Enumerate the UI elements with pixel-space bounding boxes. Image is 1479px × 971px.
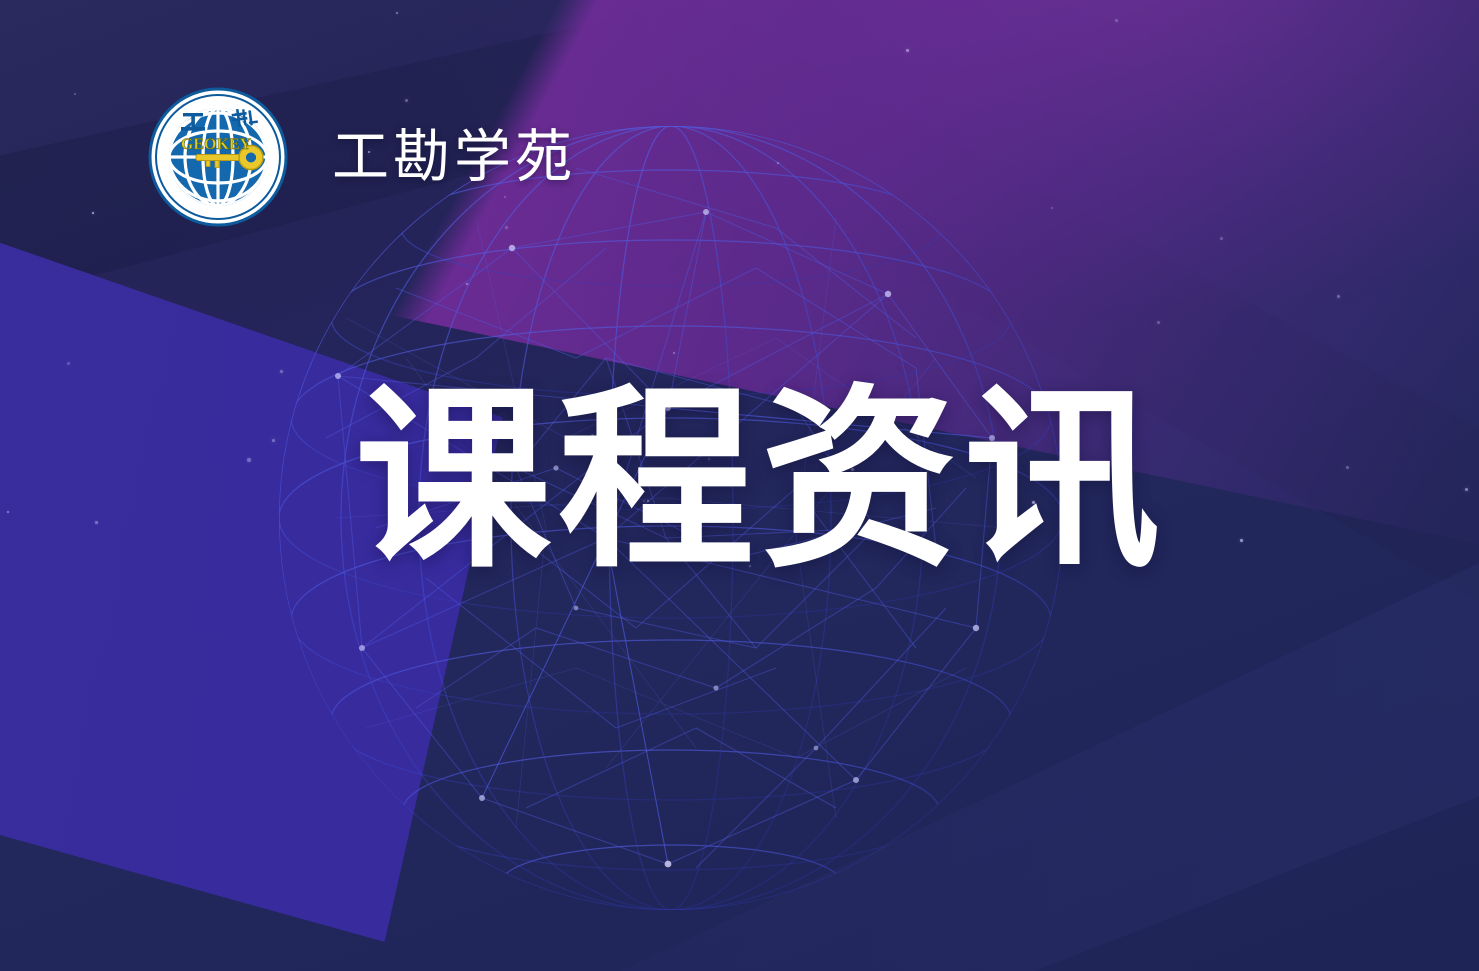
star-dot xyxy=(1240,539,1243,542)
star-dot xyxy=(1115,19,1118,22)
star-dot xyxy=(777,162,779,164)
star-dot xyxy=(272,439,275,442)
star-dot xyxy=(673,352,675,354)
star-dot xyxy=(67,362,70,365)
slide-canvas: GEOKEY 工勘学苑 课程资讯 xyxy=(0,0,1479,971)
star-dot xyxy=(1465,488,1468,491)
star-dot xyxy=(1220,237,1223,240)
geokey-globe-logo: GEOKEY xyxy=(148,86,288,228)
star-dot xyxy=(1051,207,1053,209)
brand-name: 工勘学苑 xyxy=(332,129,576,186)
star-dot xyxy=(1157,321,1160,324)
logo-wordmark: GEOKEY xyxy=(181,136,252,153)
star-dot xyxy=(247,458,251,462)
star-dot xyxy=(1337,295,1340,298)
star-dot xyxy=(95,521,98,524)
star-dot xyxy=(7,511,9,513)
page-title: 课程资讯 xyxy=(355,383,1167,579)
star-dot xyxy=(1346,466,1349,469)
star-dot xyxy=(906,49,909,52)
star-dot xyxy=(396,12,398,14)
star-dot xyxy=(74,93,76,95)
star-dot xyxy=(92,212,94,214)
star-dot xyxy=(280,370,283,373)
star-dot xyxy=(466,283,468,285)
brand-header: GEOKEY 工勘学苑 xyxy=(148,86,576,228)
